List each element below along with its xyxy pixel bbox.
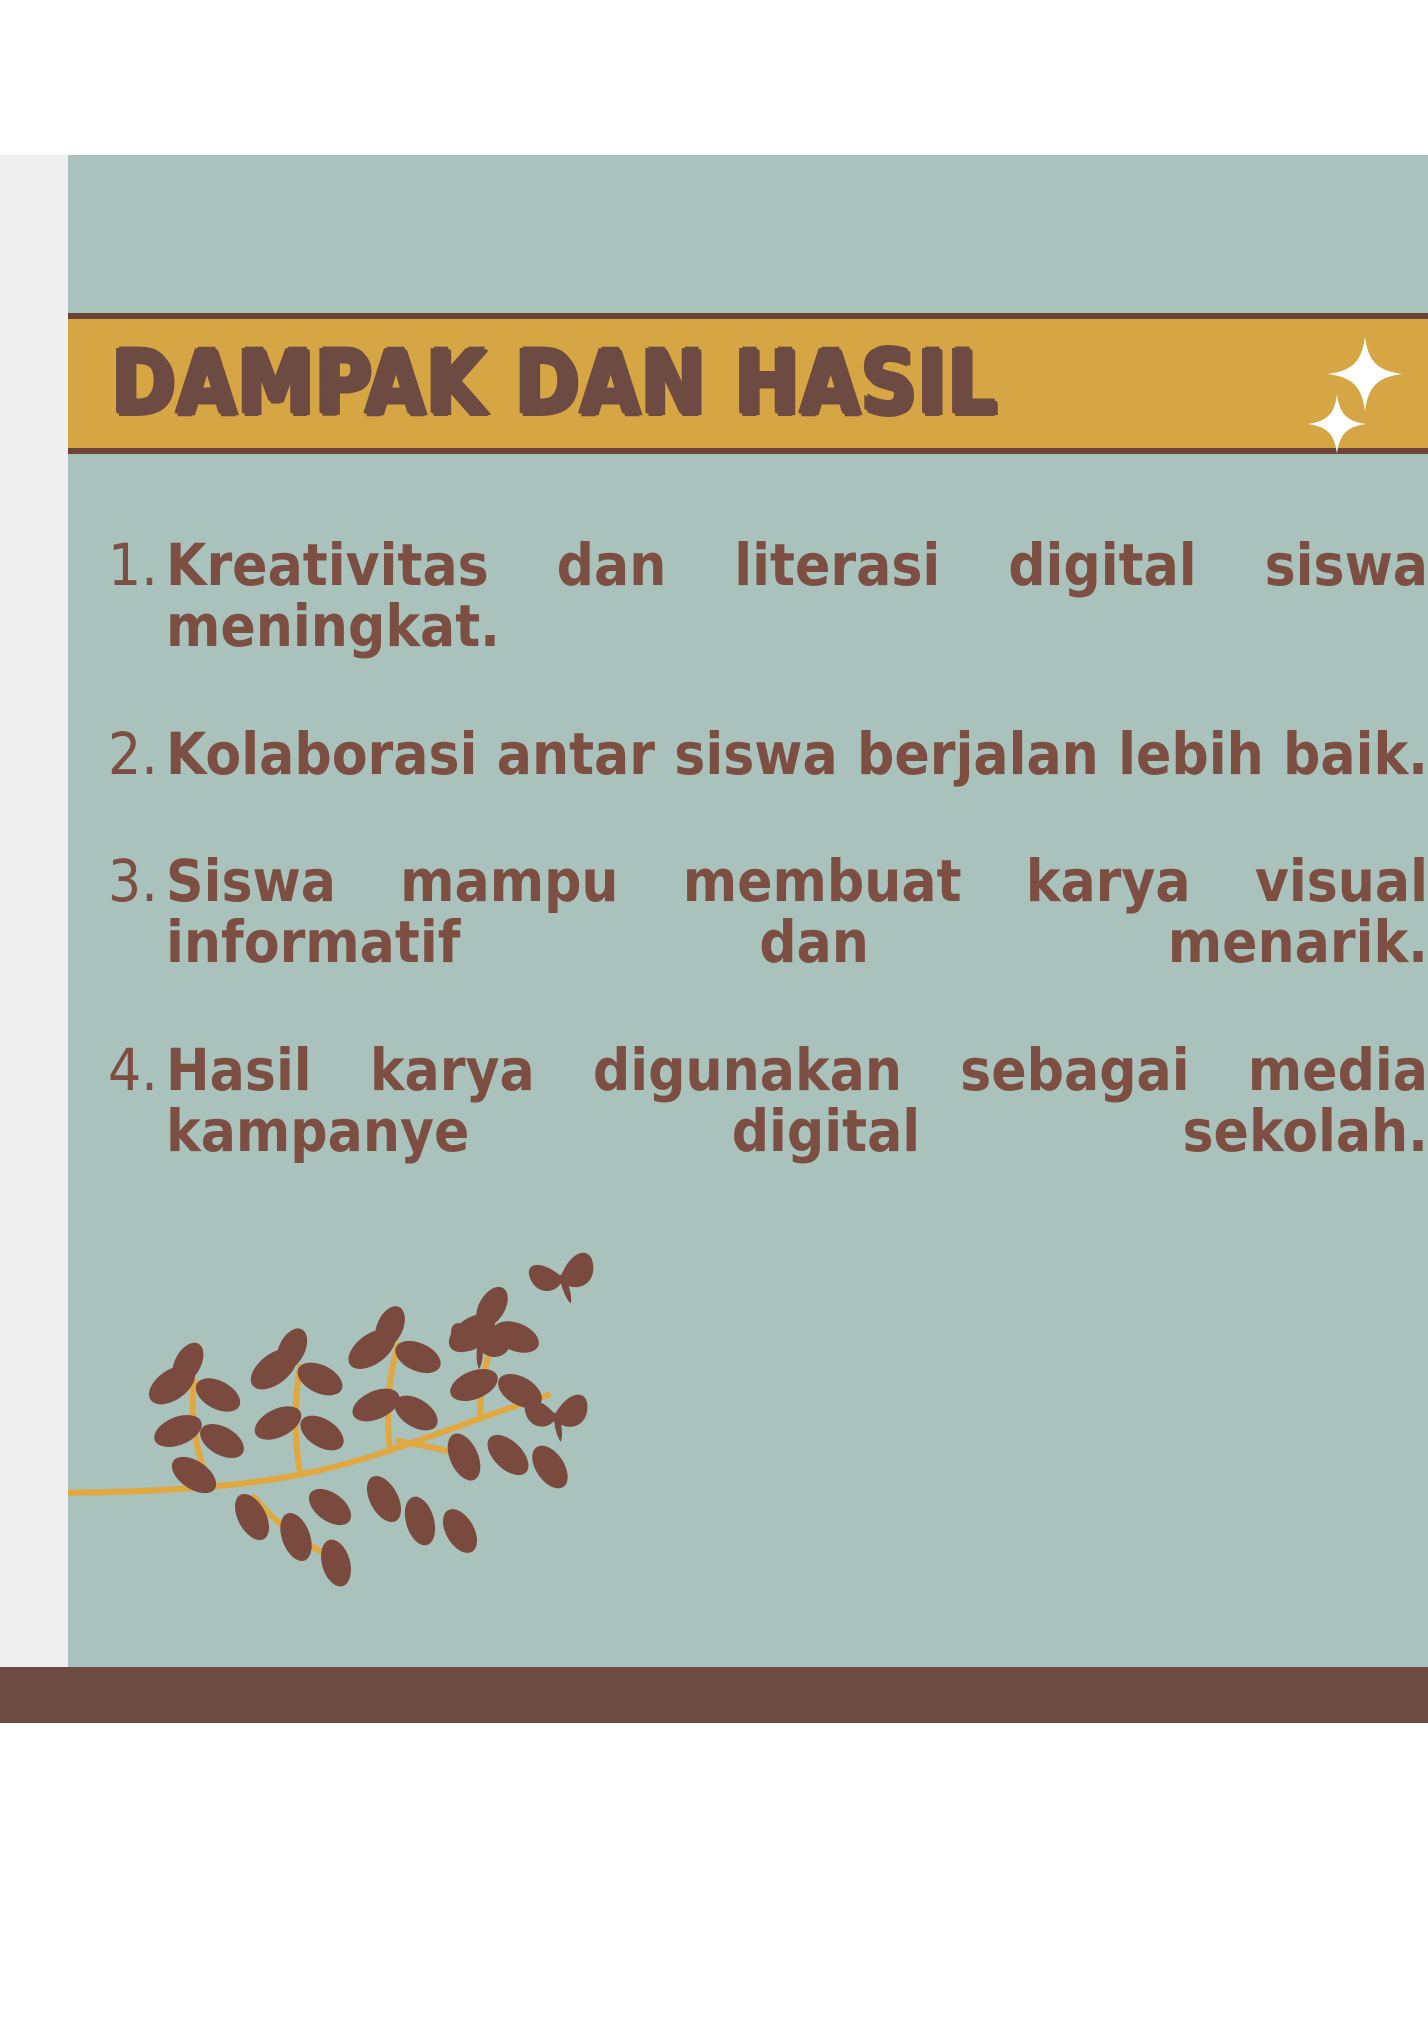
- list-item-number: 4.: [108, 1040, 166, 1101]
- footer-bar: [0, 1667, 1428, 1723]
- sparkle-small-icon: [1306, 393, 1368, 455]
- list-item-number: 2.: [108, 724, 166, 785]
- list-item: 4. Hasil karya digunakan sebagai media k…: [108, 1040, 1428, 1223]
- list-item-text: Kreativitas dan literasi digital siswa m…: [166, 535, 1428, 718]
- botanical-branch-decoration: [68, 1245, 628, 1625]
- list-item-text: Hasil karya digunakan sebagai media kamp…: [166, 1040, 1428, 1223]
- slide-panel: DAMPAK DAN HASIL 1. Kreativitas dan lit: [68, 155, 1428, 1667]
- impact-results-list: 1. Kreativitas dan literasi digital sisw…: [108, 535, 1428, 1229]
- list-item: 2. Kolaborasi antar siswa berjalan lebih…: [108, 724, 1428, 846]
- list-item-number: 3.: [108, 851, 166, 912]
- list-item-text: Kolaborasi antar siswa berjalan lebih ba…: [166, 724, 1428, 846]
- sparkle-group: [1274, 319, 1424, 448]
- butterfly-group: [438, 1250, 638, 1480]
- list-item: 1. Kreativitas dan literasi digital sisw…: [108, 535, 1428, 718]
- page-title: DAMPAK DAN HASIL: [112, 339, 998, 428]
- list-item: 3. Siswa mampu membuat karya visual info…: [108, 851, 1428, 1034]
- list-item-text: Siswa mampu membuat karya visual informa…: [166, 851, 1428, 1034]
- title-banner: DAMPAK DAN HASIL: [68, 313, 1428, 454]
- slide-stage: DAMPAK DAN HASIL 1. Kreativitas dan lit: [0, 0, 1428, 2018]
- left-gutter-strip: [0, 155, 68, 1667]
- list-item-number: 1.: [108, 535, 166, 596]
